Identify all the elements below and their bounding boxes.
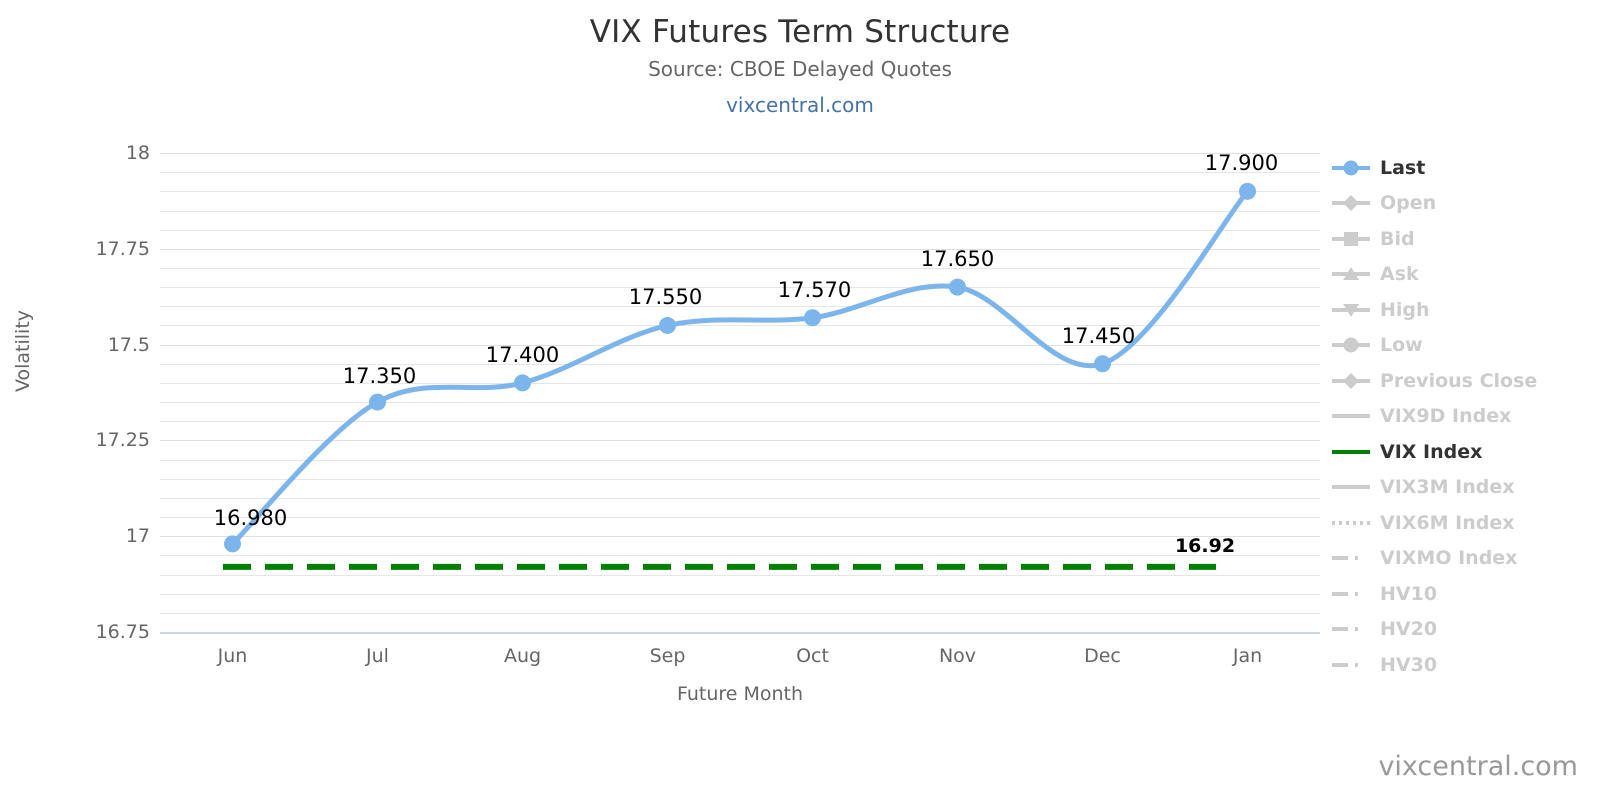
x-tick-label: Aug: [504, 645, 541, 667]
legend-item-vix-index[interactable]: VIX Index: [1330, 434, 1590, 470]
y-tick-label: 18: [30, 142, 150, 164]
legend-item-label: HV30: [1380, 654, 1437, 676]
legend-item-label: Previous Close: [1380, 370, 1537, 392]
x-tick-label: Dec: [1084, 645, 1121, 667]
legend-item-vix6m-index[interactable]: VIX6M Index: [1330, 505, 1590, 541]
line-dashdot-icon: [1330, 548, 1372, 568]
legend-item-label: HV10: [1380, 583, 1437, 605]
data-point-marker[interactable]: [514, 374, 531, 391]
x-tick-label: Oct: [796, 645, 829, 667]
data-point-marker[interactable]: [804, 309, 821, 326]
y-tick-label: 17: [30, 525, 150, 547]
page-title: VIX Futures Term Structure: [0, 14, 1600, 50]
legend-item-hv10[interactable]: HV10: [1330, 576, 1590, 612]
x-axis-title: Future Month: [160, 683, 1320, 705]
line-dashdot-icon: [1330, 584, 1372, 604]
line-solid-icon: [1330, 442, 1372, 462]
legend-item-bid[interactable]: Bid: [1330, 221, 1590, 257]
legend-item-hv30[interactable]: HV30: [1330, 647, 1590, 683]
legend-item-label: Low: [1380, 334, 1423, 356]
watermark: vixcentral.com: [1378, 751, 1578, 782]
legend-item-vix3m-index[interactable]: VIX3M Index: [1330, 470, 1590, 506]
legend-item-hv20[interactable]: HV20: [1330, 612, 1590, 648]
data-point-marker[interactable]: [1094, 355, 1111, 372]
diamond-icon: [1330, 193, 1372, 213]
legend-item-vixmo-index[interactable]: VIXMO Index: [1330, 541, 1590, 577]
line-solid-icon: [1330, 406, 1372, 426]
square-icon: [1330, 229, 1372, 249]
series-layer: [160, 153, 1320, 632]
chart-subtitle: Source: CBOE Delayed Quotes: [0, 57, 1600, 81]
legend-item-label: VIX3M Index: [1380, 476, 1515, 498]
legend-item-label: Last: [1380, 157, 1425, 179]
legend-item-label: Bid: [1380, 228, 1415, 250]
legend-item-last[interactable]: Last: [1330, 150, 1590, 186]
x-tick-label: Jul: [366, 645, 389, 667]
x-tick-label: Nov: [939, 645, 976, 667]
data-point-marker[interactable]: [224, 535, 241, 552]
circle-icon: [1330, 335, 1372, 355]
data-point-marker[interactable]: [1239, 183, 1256, 200]
legend[interactable]: LastOpenBidAskHighLowPrevious CloseVIX9D…: [1330, 150, 1590, 683]
x-tick-label: Jun: [218, 645, 248, 667]
x-tick-label: Jan: [1233, 645, 1262, 667]
legend-item-high[interactable]: High: [1330, 292, 1590, 328]
diamond-icon: [1330, 371, 1372, 391]
data-point-marker[interactable]: [369, 394, 386, 411]
plot-area: 16.98017.35017.40017.55017.57017.65017.4…: [160, 153, 1320, 632]
legend-item-label: VIXMO Index: [1380, 547, 1517, 569]
line-solid-icon: [1330, 477, 1372, 497]
x-axis-line: [160, 632, 1320, 634]
line-dashdot-icon: [1330, 619, 1372, 639]
legend-item-previous-close[interactable]: Previous Close: [1330, 363, 1590, 399]
vix-index-label: 16.92: [1175, 535, 1235, 557]
x-tick-label: Sep: [650, 645, 686, 667]
line-dashdot-icon: [1330, 655, 1372, 675]
legend-item-vix9d-index[interactable]: VIX9D Index: [1330, 399, 1590, 435]
line-dotted-icon: [1330, 513, 1372, 533]
legend-item-low[interactable]: Low: [1330, 328, 1590, 364]
legend-item-label: VIX Index: [1380, 441, 1482, 463]
vixcentral-link[interactable]: vixcentral.com: [0, 93, 1600, 117]
legend-item-label: VIX9D Index: [1380, 405, 1511, 427]
legend-item-label: Ask: [1380, 263, 1419, 285]
y-tick-label: 17.5: [30, 334, 150, 356]
legend-item-label: Open: [1380, 192, 1436, 214]
legend-item-open[interactable]: Open: [1330, 186, 1590, 222]
y-tick-label: 17.25: [30, 429, 150, 451]
legend-item-label: High: [1380, 299, 1430, 321]
legend-item-label: VIX6M Index: [1380, 512, 1515, 534]
triangle-down-icon: [1330, 300, 1372, 320]
circle-icon: [1330, 158, 1372, 178]
triangle-up-icon: [1330, 264, 1372, 284]
data-point-marker[interactable]: [949, 279, 966, 296]
y-tick-label: 17.75: [30, 238, 150, 260]
legend-item-ask[interactable]: Ask: [1330, 257, 1590, 293]
legend-item-label: HV20: [1380, 618, 1437, 640]
data-point-marker[interactable]: [659, 317, 676, 334]
y-tick-label: 16.75: [30, 621, 150, 643]
